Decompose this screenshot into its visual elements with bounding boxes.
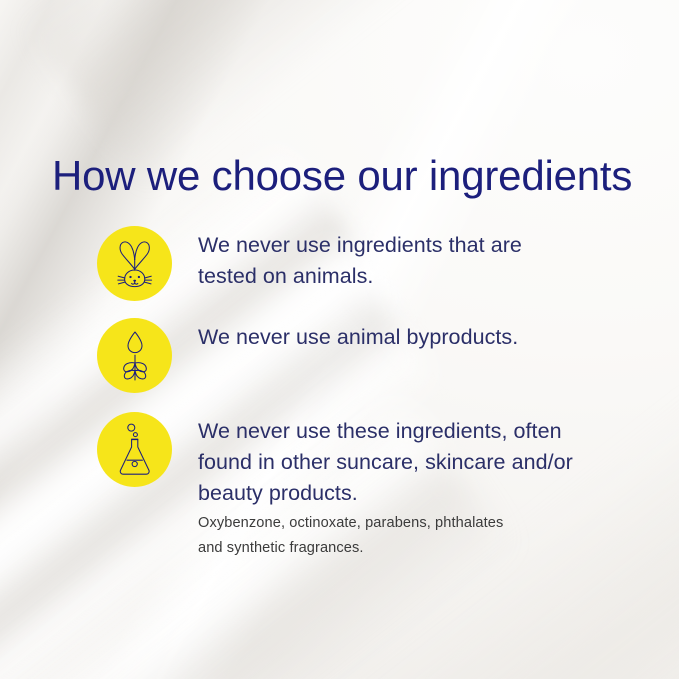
infographic-canvas: How we choose our ingredients <box>0 0 679 679</box>
list-item-text: We never use these ingredients, often fo… <box>198 412 573 559</box>
benefit-list: We never use ingredients that are tested… <box>97 226 637 559</box>
list-item-fineprint: and synthetic fragrances. <box>198 538 573 559</box>
list-item-text: We never use ingredients that are tested… <box>198 226 522 292</box>
icon-badge-no-chemicals <box>97 412 172 487</box>
list-item-line: We never use ingredients that are <box>198 230 522 261</box>
list-item-line: tested on animals. <box>198 261 522 292</box>
flask-icon <box>116 423 154 477</box>
list-item-text: We never use animal byproducts. <box>198 318 518 353</box>
list-item: We never use animal byproducts. <box>97 318 637 393</box>
icon-badge-plant-based <box>97 318 172 393</box>
list-item: We never use these ingredients, often fo… <box>97 412 637 559</box>
list-item-line: We never use these ingredients, often <box>198 416 573 447</box>
bunny-icon <box>113 239 157 289</box>
content-layer: How we choose our ingredients <box>0 0 679 679</box>
page-title: How we choose our ingredients <box>52 152 632 200</box>
plant-leaf-icon <box>116 330 154 382</box>
list-item: We never use ingredients that are tested… <box>97 226 637 301</box>
list-item-fineprint: Oxybenzone, octinoxate, parabens, phthal… <box>198 513 573 534</box>
list-item-line: We never use animal byproducts. <box>198 322 518 353</box>
list-item-line: beauty products. <box>198 478 573 509</box>
list-item-line: found in other suncare, skincare and/or <box>198 447 573 478</box>
icon-badge-cruelty-free <box>97 226 172 301</box>
